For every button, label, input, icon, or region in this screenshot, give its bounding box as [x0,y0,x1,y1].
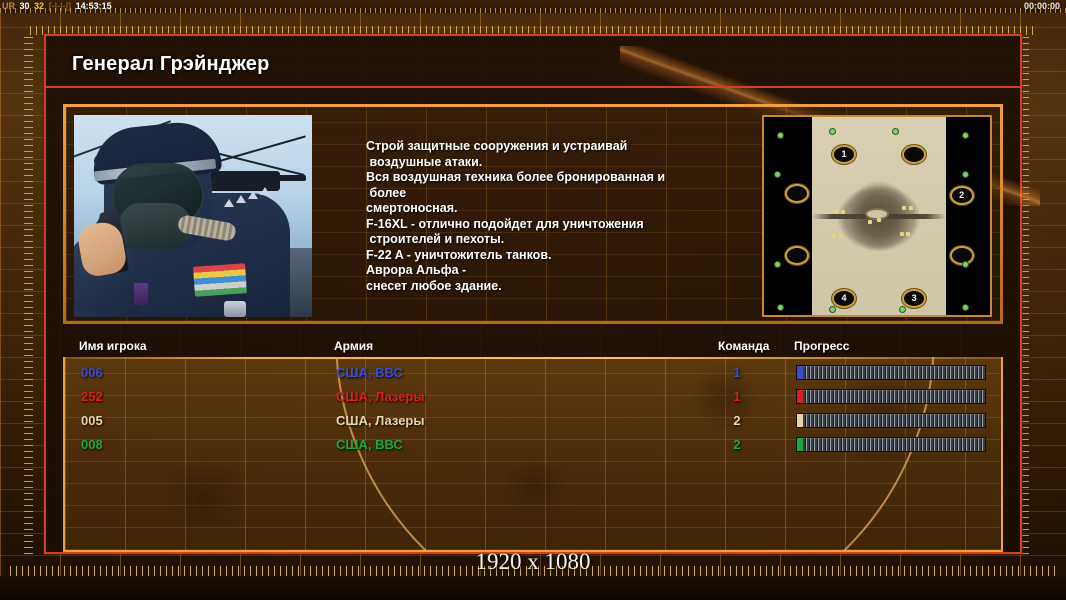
map-preview[interactable]: 1243 [762,115,992,317]
player-progress-marker [797,414,803,427]
briefing-line: воздушные атаки. [366,155,766,171]
player-list-header: Имя игрока Армия Команда Прогресс [63,339,1003,359]
column-header-team: Команда [718,339,769,353]
briefing-line: строителей и пехоты. [366,232,766,248]
topbar-tick-ruler [0,8,1066,13]
player-army: США, Лазеры [336,385,424,409]
player-army: США, ВВС [336,361,403,385]
top-status-bar: UR 30 32 [-|-|-|] 14:53:15 00:00:00 [0,0,1066,13]
table-row[interactable]: 006США, ВВС1 [65,361,1003,385]
map-resource-icon [868,220,872,224]
player-progress-marker [797,366,803,379]
map-supply-point-icon [893,129,898,134]
map-resource-icon [902,206,906,210]
map-supply-point-icon [775,262,780,267]
player-progress-bar [796,413,986,428]
map-start-position[interactable] [904,147,924,162]
briefing-line: Аврора Альфа - [366,263,766,279]
column-header-progress: Прогресс [794,339,849,353]
page-title: Генерал Грэйнджер [72,50,270,78]
rank-star-icon [260,187,270,195]
map-resource-icon [909,206,913,210]
briefing-line: более [366,186,766,202]
rank-star-icon [248,191,258,199]
player-progress-bar [796,389,986,404]
map-supply-point-icon [963,133,968,138]
player-progress-marker [797,390,803,403]
map-supply-point-icon [963,172,968,177]
bottom-strip [0,576,1066,600]
player-team: 2 [725,409,749,433]
map-start-position[interactable] [787,186,807,201]
map-supply-point-icon [963,262,968,267]
map-resource-icon [834,210,838,214]
header-divider [63,357,1003,359]
player-progress-marker [797,438,803,451]
map-resource-icon [832,234,836,238]
player-progress-bar [796,437,986,452]
table-row[interactable]: 008США, ВВС2 [65,433,1003,457]
player-progress-bar [796,365,986,380]
general-portrait [74,115,312,317]
player-team: 1 [725,385,749,409]
rank-star-icon [236,195,246,203]
map-supply-point-icon [830,307,835,312]
player-name: 005 [81,409,103,433]
column-header-army: Армия [334,339,373,353]
briefing-line: F-22 A - уничтожитель танков. [366,248,766,264]
map-start-position[interactable]: 1 [834,147,854,162]
map-supply-point-icon [900,307,905,312]
map-resource-icon [839,234,843,238]
briefing-line: Строй защитные сооружения и устраивай [366,139,766,155]
briefing-line: Вся воздушная техника более бронированна… [366,170,766,186]
rank-star-icon [224,199,234,207]
map-start-position[interactable]: 2 [952,188,972,203]
briefing-line: смертоносная. [366,201,766,217]
map-start-position[interactable] [787,248,807,263]
map-resource-icon [906,232,910,236]
ruler-left-icon [24,34,33,554]
player-name: 008 [81,433,103,457]
map-resource-icon [841,210,845,214]
portrait-badge [224,301,246,317]
map-resource-icon [877,218,881,222]
table-row[interactable]: 005США, Лазеры2 [65,409,1003,433]
briefing-line: снесет любое здание. [366,279,766,295]
portrait-ribbons [193,263,247,297]
player-team: 2 [725,433,749,457]
map-start-position[interactable] [952,248,972,263]
map-supply-point-icon [778,305,783,310]
map-supply-point-icon [775,172,780,177]
briefing-description: Строй защитные сооружения и устраивай во… [366,139,766,294]
table-row[interactable]: 252США, Лазеры1 [65,385,1003,409]
game-screen: UR 30 32 [-|-|-|] 14:53:15 00:00:00 Гене… [0,0,1066,600]
player-army: США, ВВС [336,433,403,457]
map-supply-point-icon [778,133,783,138]
column-header-name: Имя игрока [79,339,147,353]
map-supply-point-icon [963,305,968,310]
briefing-line: F-16XL - отлично подойдет для уничтожени… [366,217,766,233]
player-team: 1 [725,361,749,385]
portrait-medal [134,283,148,305]
map-resource-icon [900,232,904,236]
player-army: США, Лазеры [336,409,424,433]
player-name: 006 [81,361,103,385]
player-list-panel: 006США, ВВС1252США, Лазеры1005США, Лазер… [63,357,1003,552]
briefing-panel: Строй защитные сооружения и устраивай во… [63,104,1003,324]
resolution-label: 1920 x 1080 [0,549,1066,575]
map-supply-point-icon [830,129,835,134]
player-name: 252 [81,385,103,409]
